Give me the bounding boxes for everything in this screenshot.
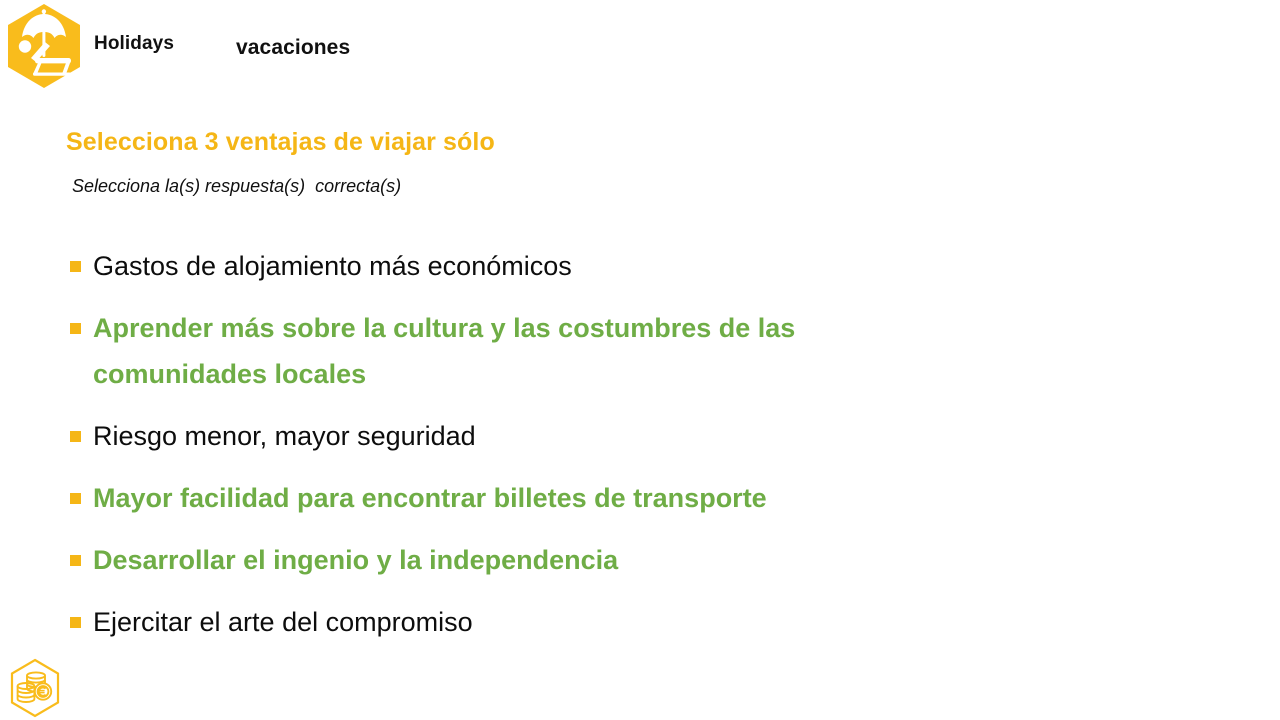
answer-label: Mayor facilidad para encontrar billetes … bbox=[93, 483, 767, 513]
answer-option[interactable]: Aprender más sobre la cultura y las cost… bbox=[68, 305, 968, 397]
page-title: Selecciona 3 ventajas de viajar sólo bbox=[66, 128, 495, 157]
answer-option[interactable]: Gastos de alojamiento más económicos bbox=[68, 243, 968, 289]
answer-label: Ejercitar el arte del compromiso bbox=[93, 607, 473, 637]
instruction-text: Selecciona la(s) respuesta(s) correcta(s… bbox=[72, 176, 401, 197]
brand-name-es: vacaciones bbox=[236, 36, 350, 60]
bullet-square-icon bbox=[70, 261, 81, 272]
bullet-square-icon bbox=[70, 323, 81, 334]
answer-option[interactable]: Desarrollar el ingenio y la independenci… bbox=[68, 537, 968, 583]
brand-name-en: Holidays bbox=[94, 33, 174, 55]
slide: Holidays vacaciones Selecciona 3 ventaja… bbox=[0, 0, 1280, 720]
answer-label: Gastos de alojamiento más económicos bbox=[93, 251, 572, 281]
bullet-square-icon bbox=[70, 617, 81, 628]
answer-list: Gastos de alojamiento más económicos Apr… bbox=[68, 243, 968, 661]
answer-option[interactable]: Riesgo menor, mayor seguridad bbox=[68, 413, 968, 459]
bullet-square-icon bbox=[70, 493, 81, 504]
bullet-square-icon bbox=[70, 555, 81, 566]
answer-label: Desarrollar el ingenio y la independenci… bbox=[93, 545, 618, 575]
coins-euro-hexagon-icon bbox=[6, 658, 64, 718]
answer-option[interactable]: Mayor facilidad para encontrar billetes … bbox=[68, 475, 968, 521]
beach-umbrella-lounger-hexagon-icon bbox=[6, 2, 82, 90]
answer-label: Riesgo menor, mayor seguridad bbox=[93, 421, 476, 451]
answer-label: Aprender más sobre la cultura y las cost… bbox=[93, 313, 795, 389]
answer-option[interactable]: Ejercitar el arte del compromiso bbox=[68, 599, 968, 645]
bullet-square-icon bbox=[70, 431, 81, 442]
